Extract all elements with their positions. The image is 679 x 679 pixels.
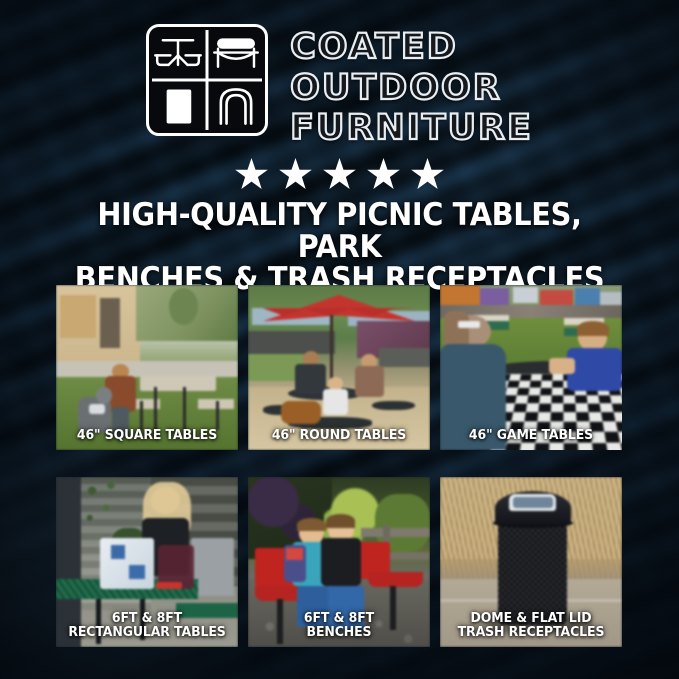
star-icon: [279, 158, 313, 192]
bike-rack-arch-icon: [207, 80, 265, 133]
brand-name-line1: COATED: [290, 27, 458, 68]
product-image-game-tables: [440, 285, 622, 450]
product-caption-game-tables: 46" GAME TABLES: [444, 429, 619, 443]
caption-line-1: 6FT & 8FT: [112, 611, 182, 626]
product-caption-trash-receptacles: DOME & FLAT LID TRASH RECEPTACLES: [444, 612, 619, 640]
star-icon: [367, 158, 401, 192]
brand-logo: COATED OUTDOOR FURNITURE: [0, 24, 679, 149]
logo-icon-grid: [146, 24, 268, 136]
product-tile-round-tables[interactable]: 46" ROUND TABLES: [248, 285, 430, 450]
caption-line-1: 6FT & 8FT: [304, 611, 374, 626]
brand-wordmark: COATED OUTDOOR FURNITURE: [290, 24, 533, 149]
star-icon: [411, 158, 445, 192]
brand-name-line3: FURNITURE: [290, 108, 533, 149]
product-caption-round-tables: 46" ROUND TABLES: [252, 429, 427, 443]
headline-line1: HIGH-QUALITY PICNIC TABLES, PARK: [52, 200, 628, 264]
product-caption-benches: 6FT & 8FT BENCHES: [252, 612, 427, 640]
logo-grid-divider-horizontal: [152, 79, 262, 82]
product-tile-rectangular-tables[interactable]: 6FT & 8FT RECTANGULAR TABLES: [56, 477, 238, 647]
caption-line-2: TRASH RECEPTACLES: [444, 626, 619, 640]
caption-line-1: 46" ROUND TABLES: [272, 428, 406, 443]
product-tile-benches[interactable]: 6FT & 8FT BENCHES: [248, 477, 430, 647]
star-rating: [0, 158, 679, 192]
picnic-table-icon: [149, 27, 207, 80]
trash-receptacle-icon: [149, 80, 207, 133]
product-tile-square-tables[interactable]: 46" SQUARE TABLES: [56, 285, 238, 450]
caption-line-1: DOME & FLAT LID: [470, 611, 591, 626]
product-caption-square-tables: 46" SQUARE TABLES: [60, 429, 235, 443]
caption-line-1: 46" SQUARE TABLES: [77, 428, 217, 443]
star-icon: [235, 158, 269, 192]
brand-name-line2: OUTDOOR: [290, 68, 502, 109]
caption-line-1: 46" GAME TABLES: [469, 428, 593, 443]
product-tile-trash-receptacles[interactable]: DOME & FLAT LID TRASH RECEPTACLES: [440, 477, 622, 647]
product-caption-rectangular-tables: 6FT & 8FT RECTANGULAR TABLES: [60, 612, 235, 640]
caption-line-2: BENCHES: [252, 626, 427, 640]
headline: HIGH-QUALITY PICNIC TABLES, PARK BENCHES…: [30, 200, 649, 296]
park-bench-icon: [207, 27, 265, 80]
product-image-round-tables: [248, 285, 430, 450]
star-icon: [323, 158, 357, 192]
caption-line-2: RECTANGULAR TABLES: [60, 626, 235, 640]
product-tile-game-tables[interactable]: 46" GAME TABLES: [440, 285, 622, 450]
product-grid: 46" SQUARE TABLES: [56, 285, 622, 647]
product-image-square-tables: [56, 285, 238, 450]
